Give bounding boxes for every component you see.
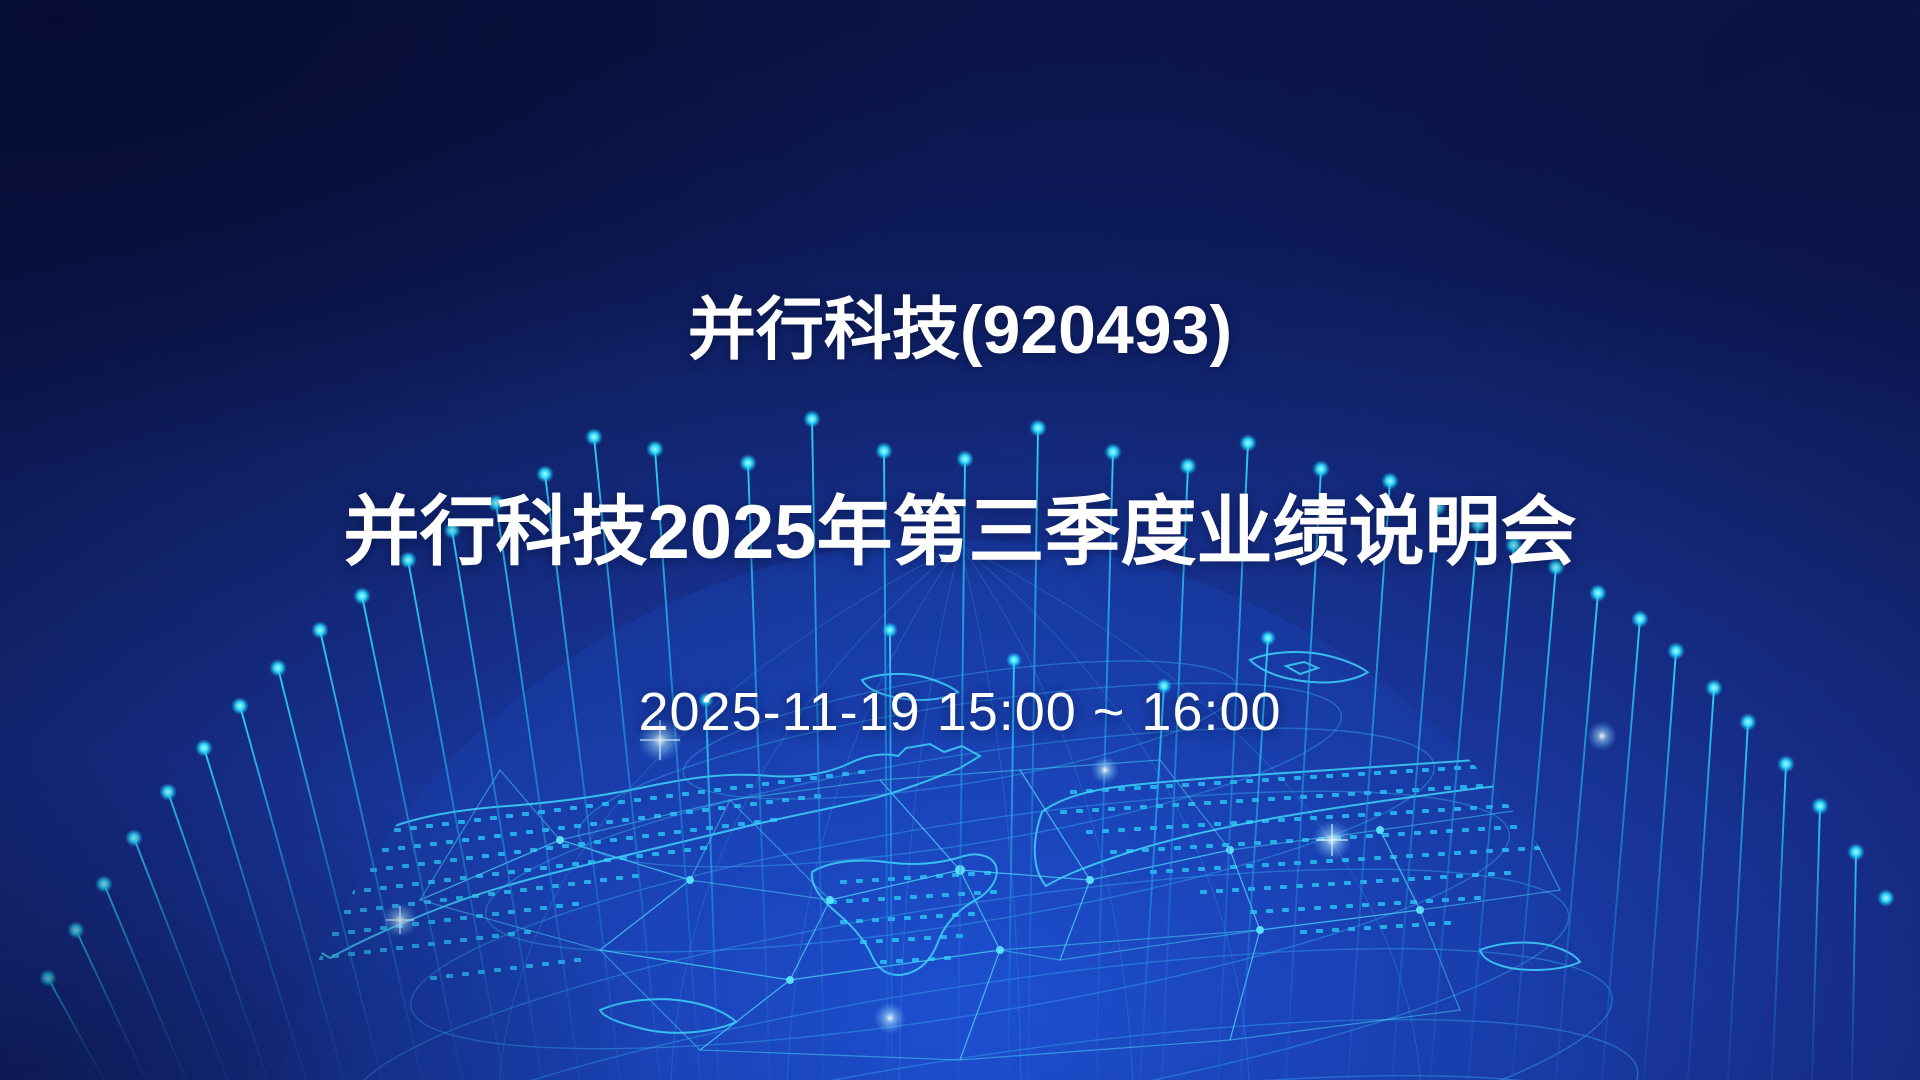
event-datetime: 2025-11-19 15:00 ~ 16:00 [0,685,1920,739]
page-title: 并行科技2025年第三季度业绩说明会 [0,495,1920,571]
stock-name-and-code: 并行科技(920493) [0,296,1920,364]
presentation-slide: 并行科技(920493) 并行科技2025年第三季度业绩说明会 2025-11-… [0,0,1920,1080]
